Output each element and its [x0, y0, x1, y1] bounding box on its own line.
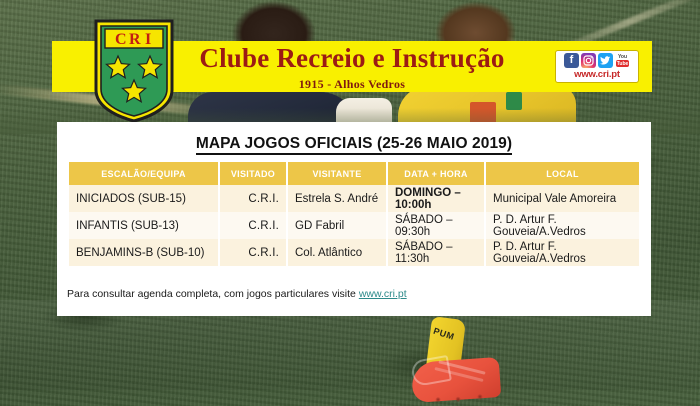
cell-away: Col. Atlântico — [287, 239, 387, 266]
crest-letter-c: C — [115, 31, 127, 48]
social-links-badge[interactable]: f You Tube www.cr — [555, 50, 639, 83]
page-title-text: MAPA JOGOS OFICIAIS (25-26 MAIO 2019) — [196, 135, 512, 155]
games-table: ESCALÃO/EQUIPA VISITADO VISITANTE DATA +… — [69, 162, 639, 266]
cell-team: BENJAMINS-B (SUB-10) — [69, 239, 219, 266]
club-crest-logo: C R I — [93, 18, 175, 124]
cell-team: INFANTIS (SUB-13) — [69, 212, 219, 239]
schedule-panel: MAPA JOGOS OFICIAIS (25-26 MAIO 2019) ES… — [57, 122, 651, 316]
cell-home: C.R.I. — [219, 212, 287, 239]
cell-team: INICIADOS (SUB-15) — [69, 185, 219, 212]
facebook-icon[interactable]: f — [564, 53, 579, 68]
cell-datetime: SÁBADO – 11:30h — [387, 239, 485, 266]
page-title: MAPA JOGOS OFICIAIS (25-26 MAIO 2019) — [57, 135, 651, 153]
footer-note-text: Para consultar agenda completa, com jogo… — [67, 288, 359, 300]
column-header-venue: LOCAL — [485, 162, 639, 185]
table-header-row: ESCALÃO/EQUIPA VISITADO VISITANTE DATA +… — [69, 162, 639, 185]
instagram-icon[interactable] — [581, 53, 596, 68]
social-icon-row: f You Tube — [559, 53, 635, 68]
cell-venue: P. D. Artur F. Gouveia/A.Vedros — [485, 212, 639, 239]
table-row: BENJAMINS-B (SUB-10) C.R.I. Col. Atlânti… — [69, 239, 639, 266]
youtube-tube-label: Tube — [616, 60, 629, 67]
cell-datetime: SÁBADO – 09:30h — [387, 212, 485, 239]
cell-venue: P. D. Artur F. Gouveia/A.Vedros — [485, 239, 639, 266]
column-header-team: ESCALÃO/EQUIPA — [69, 162, 219, 185]
footer-note: Para consultar agenda completa, com jogo… — [67, 288, 651, 300]
poster-canvas: PUM Clube Recreio e Instrução 1915 - Alh… — [0, 0, 700, 406]
website-url[interactable]: www.cri.pt — [559, 69, 635, 80]
twitter-icon[interactable] — [598, 53, 613, 68]
youtube-icon[interactable]: You Tube — [615, 53, 630, 68]
cell-home: C.R.I. — [219, 185, 287, 212]
table-row: INFANTIS (SUB-13) C.R.I. GD Fabril SÁBAD… — [69, 212, 639, 239]
cell-venue: Municipal Vale Amoreira — [485, 185, 639, 212]
cell-datetime: DOMINGO – 10:00h — [387, 185, 485, 212]
cell-home: C.R.I. — [219, 239, 287, 266]
crest-letter-i: I — [145, 31, 151, 48]
crest-letter-r: R — [129, 31, 141, 48]
column-header-away: VISITANTE — [287, 162, 387, 185]
footer-website-link[interactable]: www.cri.pt — [359, 288, 407, 300]
column-header-datetime: DATA + HORA — [387, 162, 485, 185]
cell-away: Estrela S. André — [287, 185, 387, 212]
cell-away: GD Fabril — [287, 212, 387, 239]
column-header-home: VISITADO — [219, 162, 287, 185]
table-row: INICIADOS (SUB-15) C.R.I. Estrela S. And… — [69, 185, 639, 212]
